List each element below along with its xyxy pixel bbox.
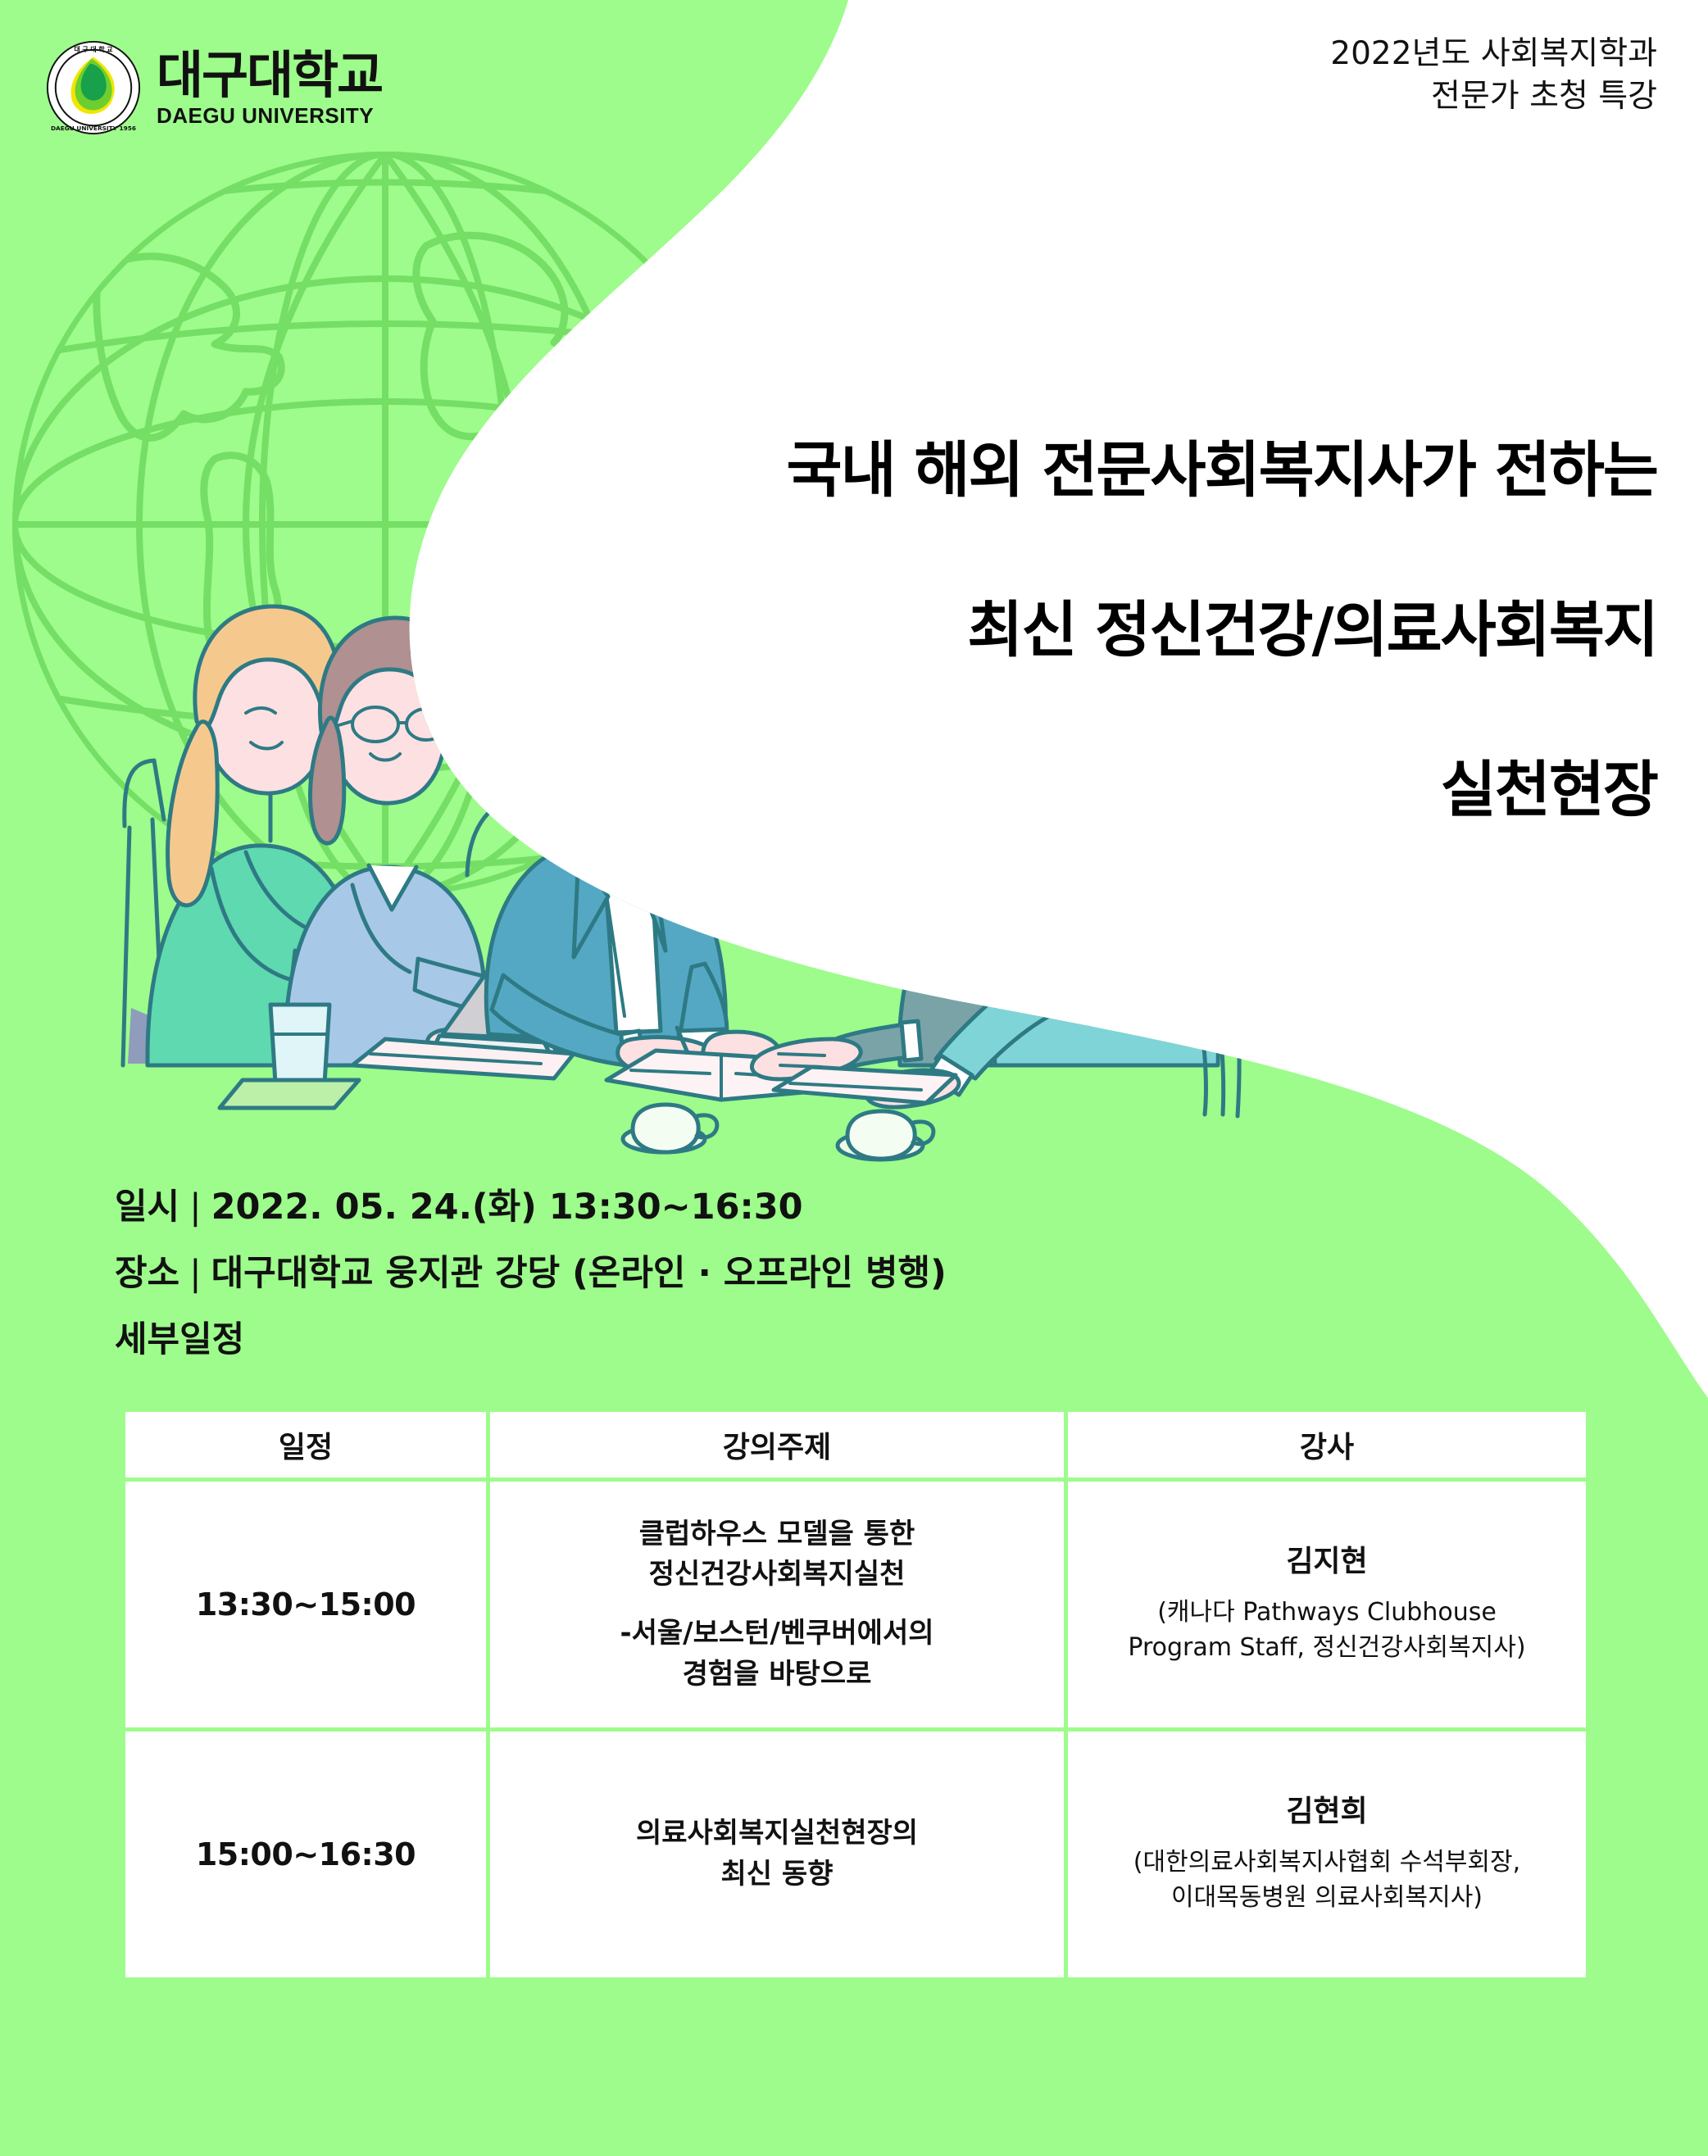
date-label: 일시 bbox=[115, 1187, 179, 1228]
schedule-section-label: 세부일정 bbox=[115, 1323, 947, 1358]
topic-main: 의료사회복지실천현장의최신 동향 bbox=[498, 1813, 1056, 1895]
title-line-1: 국내 해외 전문사회복지사가 전하는 bbox=[787, 431, 1658, 511]
event-kicker: 2022년도 사회복지학과 전문가 초청 특강 bbox=[1330, 33, 1657, 119]
university-seal-icon: 대 구 대 학 교 DAEGU UNIVERSITY 1956 bbox=[45, 39, 142, 136]
logo-english-name: DAEGU UNIVERSITY bbox=[157, 105, 382, 126]
university-logo: 대 구 대 학 교 DAEGU UNIVERSITY 1956 대구대학교 DA… bbox=[45, 39, 382, 136]
svg-text:대 구 대 학 교: 대 구 대 학 교 bbox=[74, 45, 112, 53]
cell-speaker: 김현희 (대한의료사회복지사협회 수석부회장,이대목동병원 의료사회복지사) bbox=[1068, 1732, 1586, 1977]
speaker-affiliation: (캐나다 Pathways ClubhouseProgram Staff, 정신… bbox=[1076, 1595, 1578, 1667]
topic-sub: -서울/보스턴/벤쿠버에서의경험을 바탕으로 bbox=[498, 1614, 1056, 1695]
cell-speaker: 김지현 (캐나다 Pathways ClubhouseProgram Staff… bbox=[1068, 1482, 1586, 1727]
cell-time: 13:30~15:00 bbox=[125, 1482, 486, 1727]
cell-topic: 클럽하우스 모델을 통한정신건강사회복지실천 -서울/보스턴/벤쿠버에서의경험을… bbox=[490, 1482, 1064, 1727]
place-separator: | bbox=[179, 1253, 211, 1294]
date-separator: | bbox=[179, 1187, 211, 1228]
poster-root: 대 구 대 학 교 DAEGU UNIVERSITY 1956 대구대학교 DA… bbox=[0, 0, 1708, 2156]
page-title: 국내 해외 전문사회복지사가 전하는 최신 정신건강/의료사회복지 실천현장 bbox=[787, 351, 1658, 911]
speaker-name: 김지현 bbox=[1076, 1543, 1578, 1582]
date-value: 2022. 05. 24.(화) 13:30~16:30 bbox=[211, 1187, 803, 1228]
table-header-row: 일정 강의주제 강사 bbox=[125, 1412, 1586, 1477]
column-header-speaker: 강사 bbox=[1068, 1412, 1586, 1477]
speaker-affiliation: (대한의료사회복지사협회 수석부회장,이대목동병원 의료사회복지사) bbox=[1076, 1845, 1578, 1917]
kicker-line-2: 전문가 초청 특강 bbox=[1330, 75, 1657, 118]
title-line-3: 실천현장 bbox=[787, 751, 1658, 831]
column-header-time: 일정 bbox=[125, 1412, 486, 1477]
event-date-row: 일시|2022. 05. 24.(화) 13:30~16:30 bbox=[115, 1190, 947, 1225]
title-line-2: 최신 정신건강/의료사회복지 bbox=[787, 591, 1658, 671]
schedule-table: 일정 강의주제 강사 13:30~15:00 클럽하우스 모델을 통한정신건강사… bbox=[121, 1408, 1590, 1981]
speaker-name: 김현희 bbox=[1076, 1793, 1578, 1831]
place-label: 장소 bbox=[115, 1253, 179, 1294]
cell-topic: 의료사회복지실천현장의최신 동향 bbox=[490, 1732, 1064, 1977]
place-value: 대구대학교 웅지관 강당 (온라인 · 오프라인 병행) bbox=[211, 1253, 947, 1294]
cell-time: 15:00~16:30 bbox=[125, 1732, 486, 1977]
svg-text:DAEGU UNIVERSITY 1956: DAEGU UNIVERSITY 1956 bbox=[51, 125, 136, 132]
event-place-row: 장소|대구대학교 웅지관 강당 (온라인 · 오프라인 병행) bbox=[115, 1256, 947, 1291]
column-header-topic: 강의주제 bbox=[490, 1412, 1064, 1477]
kicker-line-1: 2022년도 사회복지학과 bbox=[1330, 33, 1657, 75]
logo-korean-name: 대구대학교 bbox=[157, 50, 382, 101]
table-row: 13:30~15:00 클럽하우스 모델을 통한정신건강사회복지실천 -서울/보… bbox=[125, 1482, 1586, 1727]
table-row: 15:00~16:30 의료사회복지실천현장의최신 동향 김현희 (대한의료사회… bbox=[125, 1732, 1586, 1977]
event-info: 일시|2022. 05. 24.(화) 13:30~16:30 장소|대구대학교… bbox=[115, 1190, 947, 1358]
topic-main: 클럽하우스 모델을 통한정신건강사회복지실천 bbox=[498, 1514, 1056, 1595]
